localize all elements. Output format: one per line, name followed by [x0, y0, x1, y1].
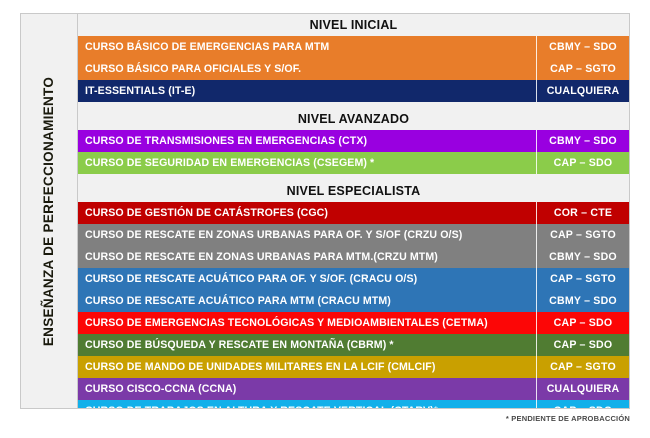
- course-name: CURSO BÁSICO PARA OFICIALES Y S/OF.: [78, 58, 536, 80]
- courses-table: NIVEL INICIALCURSO BÁSICO DE EMERGENCIAS…: [78, 14, 629, 408]
- table-row[interactable]: CURSO DE BÚSQUEDA Y RESCATE EN MONTAÑA (…: [78, 334, 629, 356]
- vertical-axis-label: ENSEÑANZA DE PERFECCIONAMIENTO: [21, 14, 78, 408]
- table-row[interactable]: CURSO DE RESCATE EN ZONAS URBANAS PARA O…: [78, 224, 629, 246]
- course-name: CURSO DE SEGURIDAD EN EMERGENCIAS (CSEGE…: [78, 152, 536, 174]
- vertical-axis-label-text: ENSEÑANZA DE PERFECCIONAMIENTO: [42, 76, 57, 345]
- table-row[interactable]: CURSO DE MANDO DE UNIDADES MILITARES EN …: [78, 356, 629, 378]
- course-name: CURSO DE BÚSQUEDA Y RESCATE EN MONTAÑA (…: [78, 334, 536, 356]
- rank-code: CUALQUIERA: [536, 378, 629, 400]
- rank-code: CAP – SGTO: [536, 58, 629, 80]
- rank-code: CAP – SDO: [536, 334, 629, 356]
- course-name: CURSO DE RESCATE EN ZONAS URBANAS PARA M…: [78, 246, 536, 268]
- course-name: IT-ESSENTIALS (IT-E): [78, 80, 536, 102]
- course-name: CURSO DE EMERGENCIAS TECNOLÓGICAS Y MEDI…: [78, 312, 536, 334]
- rank-code: CBMY – SDO: [536, 246, 629, 268]
- section-header: NIVEL AVANZADO: [78, 108, 629, 130]
- rank-code: CBMY – SDO: [536, 290, 629, 312]
- course-name: CURSO DE RESCATE EN ZONAS URBANAS PARA O…: [78, 224, 536, 246]
- section-header: NIVEL INICIAL: [78, 14, 629, 36]
- table-row[interactable]: CURSO DE TRABAJOS EN ALTURA Y RESCATE VE…: [78, 400, 629, 408]
- rank-code: CBMY – SDO: [536, 36, 629, 58]
- table-row[interactable]: IT-ESSENTIALS (IT-E)CUALQUIERA: [78, 80, 629, 102]
- page-root: ENSEÑANZA DE PERFECCIONAMIENTO NIVEL INI…: [0, 0, 650, 438]
- table-row[interactable]: CURSO DE EMERGENCIAS TECNOLÓGICAS Y MEDI…: [78, 312, 629, 334]
- rank-code: CBMY – SDO: [536, 130, 629, 152]
- rank-code: CAP – SGTO: [536, 224, 629, 246]
- course-name: CURSO DE TRABAJOS EN ALTURA Y RESCATE VE…: [78, 400, 536, 408]
- table-row[interactable]: CURSO DE TRANSMISIONES EN EMERGENCIAS (C…: [78, 130, 629, 152]
- table-row[interactable]: CURSO DE RESCATE ACUÁTICO PARA OF. Y S/O…: [78, 268, 629, 290]
- table-row[interactable]: CURSO BÁSICO DE EMERGENCIAS PARA MTMCBMY…: [78, 36, 629, 58]
- rank-code: COR – CTE: [536, 202, 629, 224]
- footnote: * PENDIENTE DE APROBACCIÓN: [506, 414, 630, 423]
- rank-code: CAP – SDO: [536, 152, 629, 174]
- rank-code: CAP – SGTO: [536, 356, 629, 378]
- table-row[interactable]: CURSO DE GESTIÓN DE CATÁSTROFES (CGC)COR…: [78, 202, 629, 224]
- table-row[interactable]: CURSO DE RESCATE ACUÁTICO PARA MTM (CRAC…: [78, 290, 629, 312]
- course-name: CURSO DE RESCATE ACUÁTICO PARA OF. Y S/O…: [78, 268, 536, 290]
- rank-code: CAP – SGTO: [536, 268, 629, 290]
- table-row[interactable]: CURSO CISCO-CCNA (CCNA)CUALQUIERA: [78, 378, 629, 400]
- rank-code: CUALQUIERA: [536, 80, 629, 102]
- section-header: NIVEL ESPECIALISTA: [78, 180, 629, 202]
- table-row[interactable]: CURSO DE SEGURIDAD EN EMERGENCIAS (CSEGE…: [78, 152, 629, 174]
- course-name: CURSO CISCO-CCNA (CCNA): [78, 378, 536, 400]
- courses-table-frame: ENSEÑANZA DE PERFECCIONAMIENTO NIVEL INI…: [20, 13, 630, 409]
- table-row[interactable]: CURSO BÁSICO PARA OFICIALES Y S/OF.CAP –…: [78, 58, 629, 80]
- course-name: CURSO DE TRANSMISIONES EN EMERGENCIAS (C…: [78, 130, 536, 152]
- table-row[interactable]: CURSO DE RESCATE EN ZONAS URBANAS PARA M…: [78, 246, 629, 268]
- rank-code: CAP – SDO: [536, 312, 629, 334]
- course-name: CURSO DE RESCATE ACUÁTICO PARA MTM (CRAC…: [78, 290, 536, 312]
- course-name: CURSO DE GESTIÓN DE CATÁSTROFES (CGC): [78, 202, 536, 224]
- rank-code: CAP – SDO: [536, 400, 629, 408]
- course-name: CURSO BÁSICO DE EMERGENCIAS PARA MTM: [78, 36, 536, 58]
- course-name: CURSO DE MANDO DE UNIDADES MILITARES EN …: [78, 356, 536, 378]
